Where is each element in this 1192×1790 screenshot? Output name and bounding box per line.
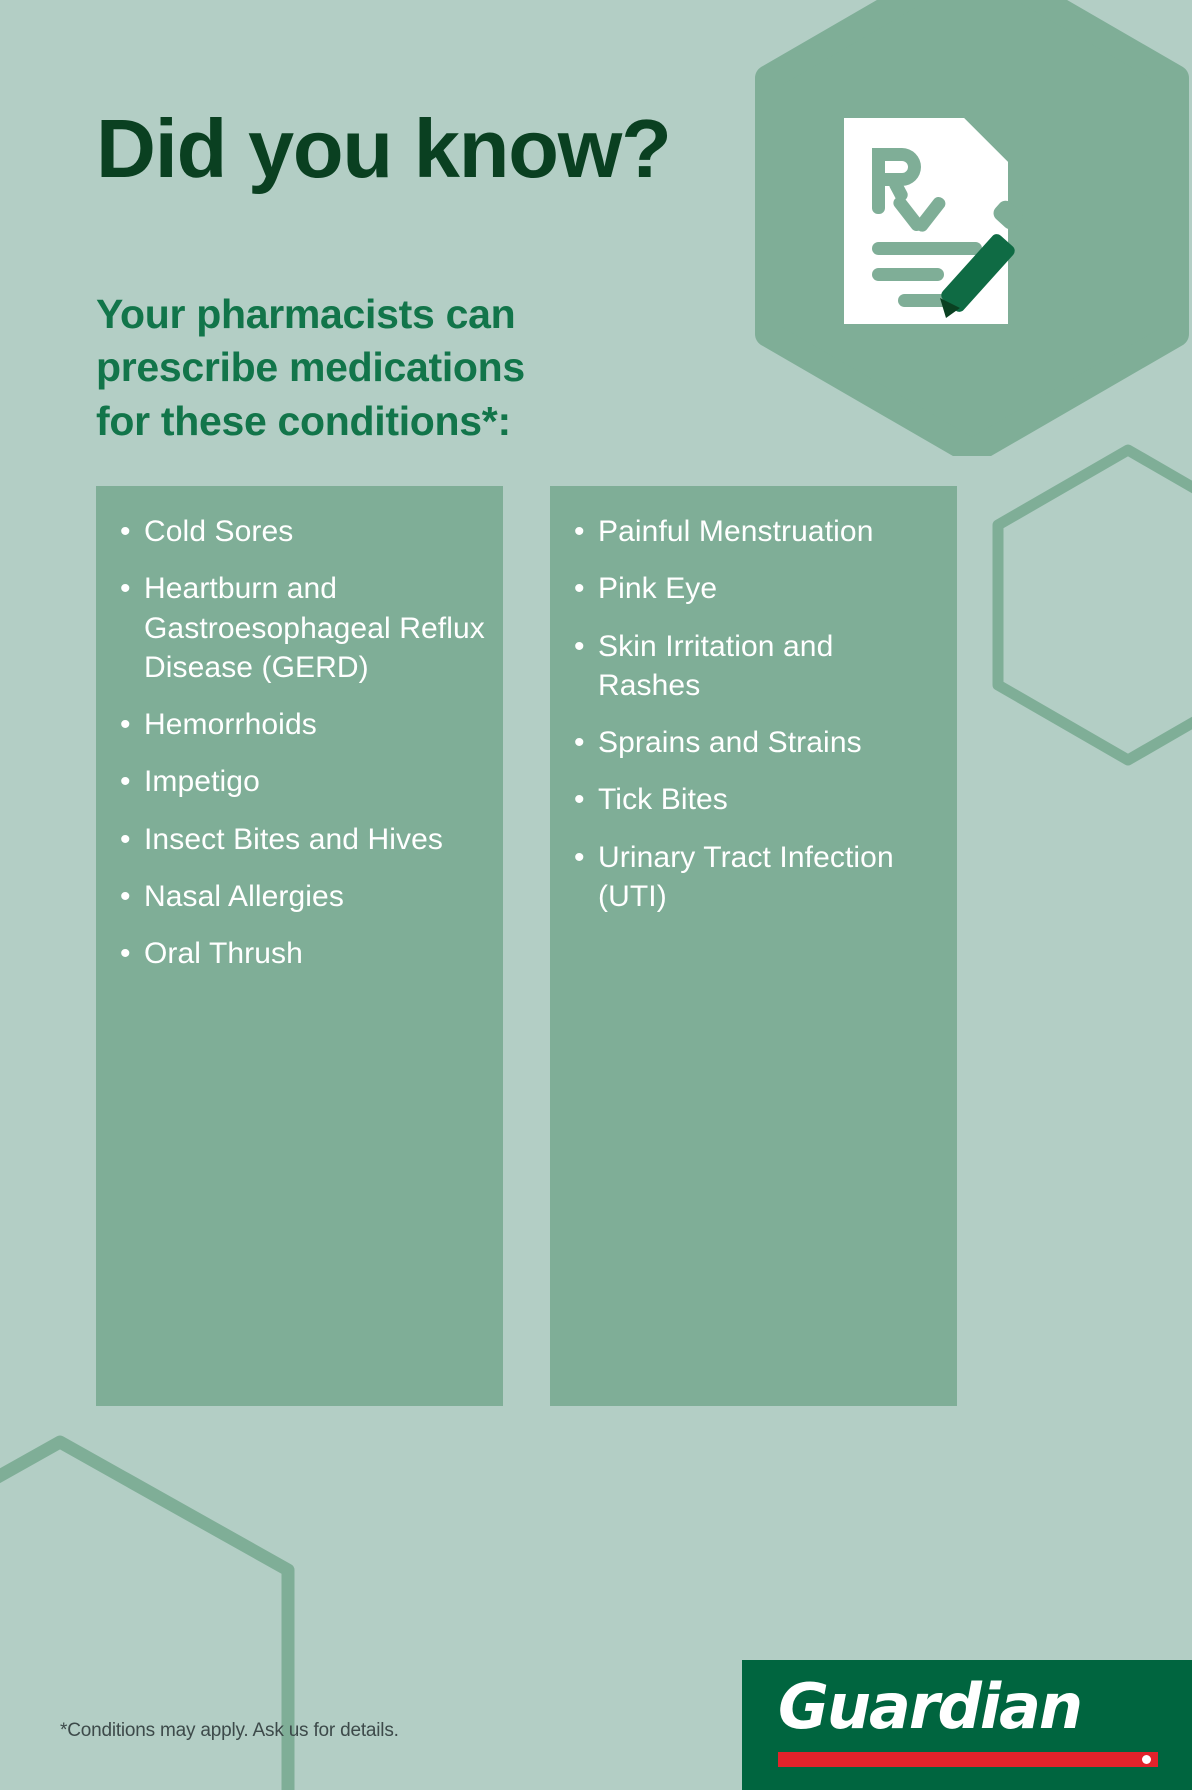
bullet-icon: •	[120, 877, 131, 916]
list-item: • Insect Bites and Hives	[112, 820, 487, 859]
condition-label: Skin Irritation and Rashes	[598, 630, 833, 702]
brand-wordmark: Guardian	[778, 1676, 1081, 1738]
list-item: • Heartburn and Gastroesophageal Reflux …	[112, 569, 487, 687]
condition-label: Pink Eye	[598, 572, 717, 605]
list-item: • Painful Menstruation	[566, 512, 941, 551]
subtitle-line-2: prescribe medications	[96, 341, 525, 394]
conditions-list-left: • Cold Sores • Heartburn and Gastroesoph…	[112, 512, 487, 974]
list-item: • Impetigo	[112, 762, 487, 801]
list-item: • Urinary Tract Infection (UTI)	[566, 838, 941, 917]
brand-red-bar	[778, 1752, 1158, 1767]
list-item: • Oral Thrush	[112, 934, 487, 973]
conditions-list-right: • Painful Menstruation • Pink Eye • Skin…	[566, 512, 941, 916]
condition-label: Insect Bites and Hives	[144, 823, 443, 856]
bullet-icon: •	[120, 762, 131, 801]
list-item: • Pink Eye	[566, 569, 941, 608]
subtitle-line-3: for these conditions*:	[96, 395, 525, 448]
list-item: • Tick Bites	[566, 780, 941, 819]
rx-prescription-icon	[836, 112, 1046, 332]
conditions-panel-right: • Painful Menstruation • Pink Eye • Skin…	[550, 486, 957, 1406]
condition-label: Oral Thrush	[144, 937, 303, 970]
bullet-icon: •	[574, 512, 585, 551]
disclaimer-footnote: *Conditions may apply. Ask us for detail…	[60, 1720, 399, 1742]
bullet-icon: •	[574, 569, 585, 608]
bullet-icon: •	[574, 838, 585, 877]
bullet-icon: •	[120, 705, 131, 744]
bullet-icon: •	[574, 723, 585, 762]
list-item: • Cold Sores	[112, 512, 487, 551]
condition-label: Cold Sores	[144, 515, 293, 548]
condition-label: Impetigo	[144, 765, 260, 798]
poster-canvas: Did you know? Your pharmacists can presc…	[0, 0, 1192, 1790]
condition-label: Tick Bites	[598, 783, 728, 816]
condition-label: Painful Menstruation	[598, 515, 874, 548]
subtitle-line-1: Your pharmacists can	[96, 288, 525, 341]
condition-label: Sprains and Strains	[598, 726, 862, 759]
list-item: • Skin Irritation and Rashes	[566, 627, 941, 706]
condition-label: Nasal Allergies	[144, 880, 344, 913]
conditions-panel-left: • Cold Sores • Heartburn and Gastroesoph…	[96, 486, 503, 1406]
list-item: • Hemorrhoids	[112, 705, 487, 744]
bullet-icon: •	[574, 627, 585, 666]
guardian-logo: Guardian	[742, 1660, 1192, 1790]
bullet-icon: •	[120, 820, 131, 859]
condition-label: Heartburn and Gastroesophageal Reflux Di…	[144, 572, 485, 684]
condition-label: Urinary Tract Infection (UTI)	[598, 841, 894, 913]
bullet-icon: •	[120, 512, 131, 551]
brand-bar-dot-icon	[1142, 1755, 1151, 1764]
list-item: • Nasal Allergies	[112, 877, 487, 916]
conditions-panels: • Cold Sores • Heartburn and Gastroesoph…	[96, 486, 1096, 1406]
page-subtitle: Your pharmacists can prescribe medicatio…	[96, 288, 525, 448]
bullet-icon: •	[120, 569, 131, 608]
bullet-icon: •	[574, 780, 585, 819]
condition-label: Hemorrhoids	[144, 708, 317, 741]
page-title: Did you know?	[96, 108, 671, 189]
bullet-icon: •	[120, 934, 131, 973]
list-item: • Sprains and Strains	[566, 723, 941, 762]
